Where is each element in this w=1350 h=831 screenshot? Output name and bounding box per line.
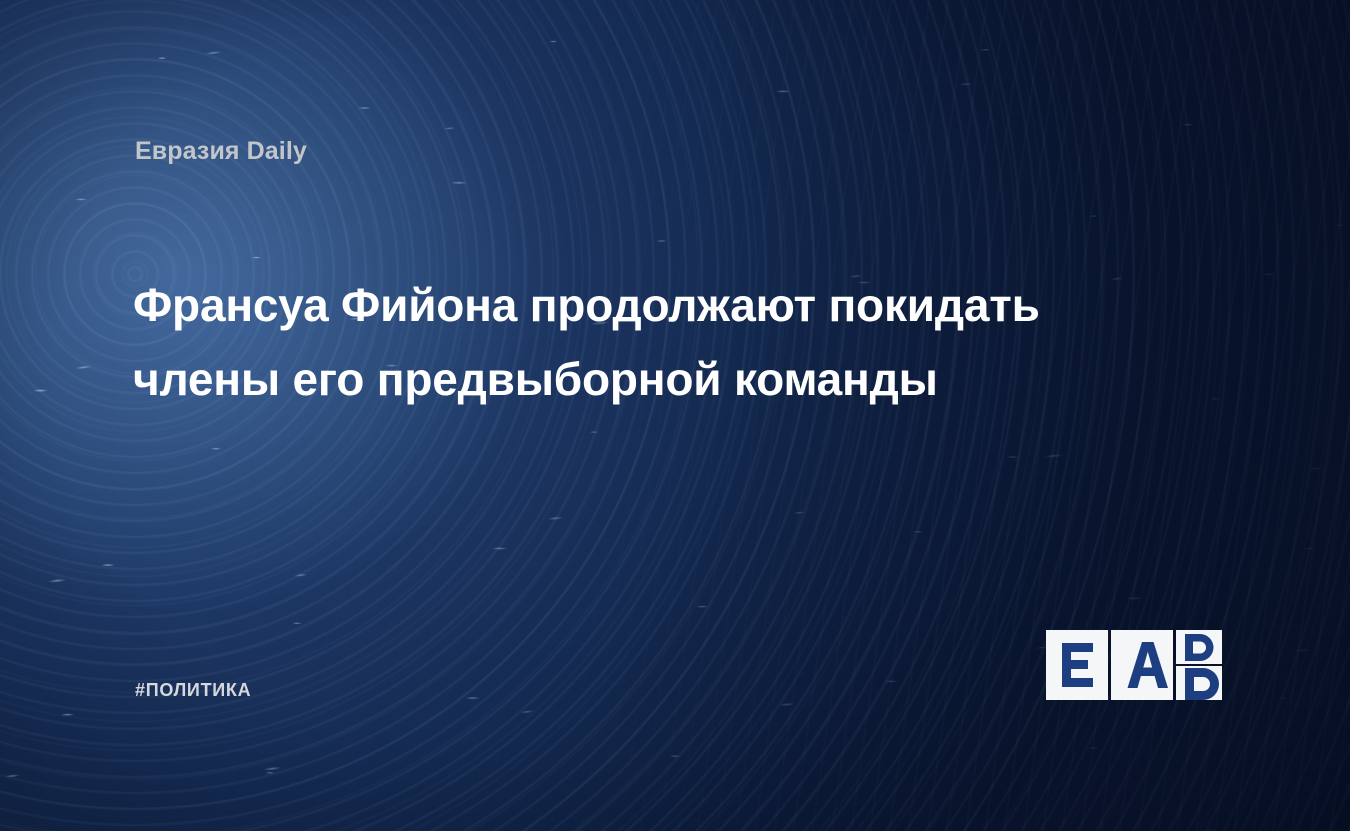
category-tag[interactable]: #ПОЛИТИКА [135,680,251,701]
logo-letter-e-tile [1046,630,1108,700]
ead-logo[interactable] [1046,630,1222,700]
brand-name: Евразия Daily [135,137,307,166]
headline-line-2: члены его предвыборной команды [133,342,1223,416]
headline-line-1: Франсуа Фийона продолжают покидать [133,268,1223,342]
news-card: Евразия Daily Франсуа Фийона продолжают … [0,0,1350,831]
page-title: Франсуа Фийона продолжают покидать члены… [133,268,1223,416]
logo-letter-a-tile [1111,630,1173,700]
card-content: Евразия Daily Франсуа Фийона продолжают … [0,0,1350,831]
logo-letter-d-split-tile [1176,630,1222,700]
